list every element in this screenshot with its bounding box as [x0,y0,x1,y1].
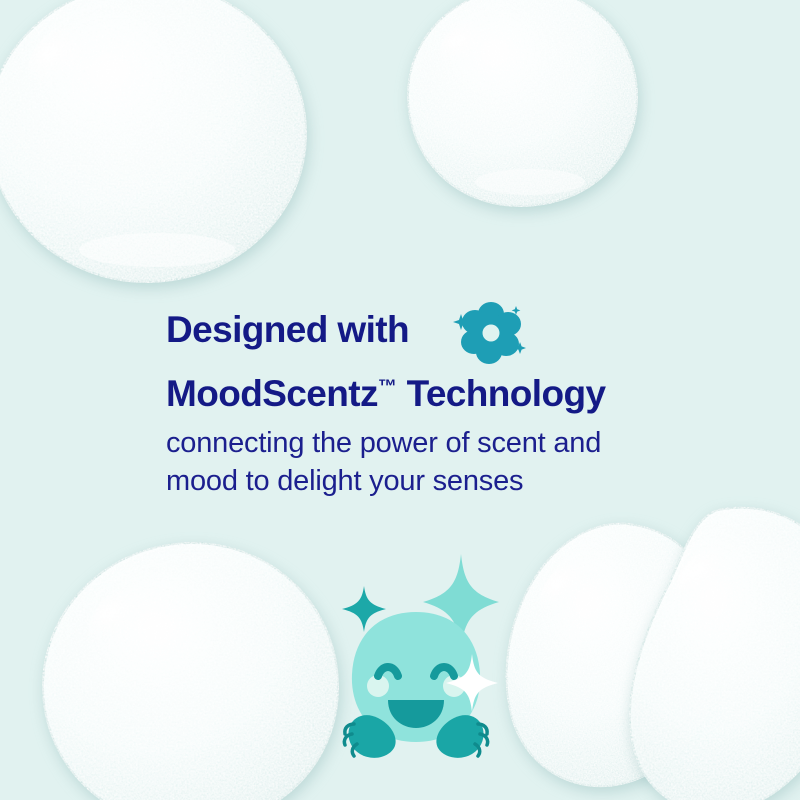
sparkle-icon [444,652,500,714]
headline-line-1: Designed with [166,308,409,352]
headline-technology-word: Technology [397,373,606,414]
flower-icon [450,298,534,366]
gel-blob-bottom-far-right [626,504,800,800]
tagline: connecting the power of scent andmood to… [166,424,666,500]
copy-block: Designed with MoodScentz™ Technology con… [166,308,726,500]
gel-blob-bottom-left [40,540,340,800]
headline-row-1: Designed with [166,308,726,352]
tagline-line-1: connecting the power of scent and [166,427,601,459]
trademark-symbol: ™ [378,377,397,398]
headline-line-2: MoodScentz™ Technology [166,372,726,416]
gel-blob-top-right [405,0,640,209]
promo-poster: Designed with MoodScentz™ Technology con… [0,0,800,800]
gel-blob-top-left [0,0,312,288]
brand-name: MoodScentz [166,373,378,414]
tagline-line-2: mood to delight your senses [166,465,523,497]
